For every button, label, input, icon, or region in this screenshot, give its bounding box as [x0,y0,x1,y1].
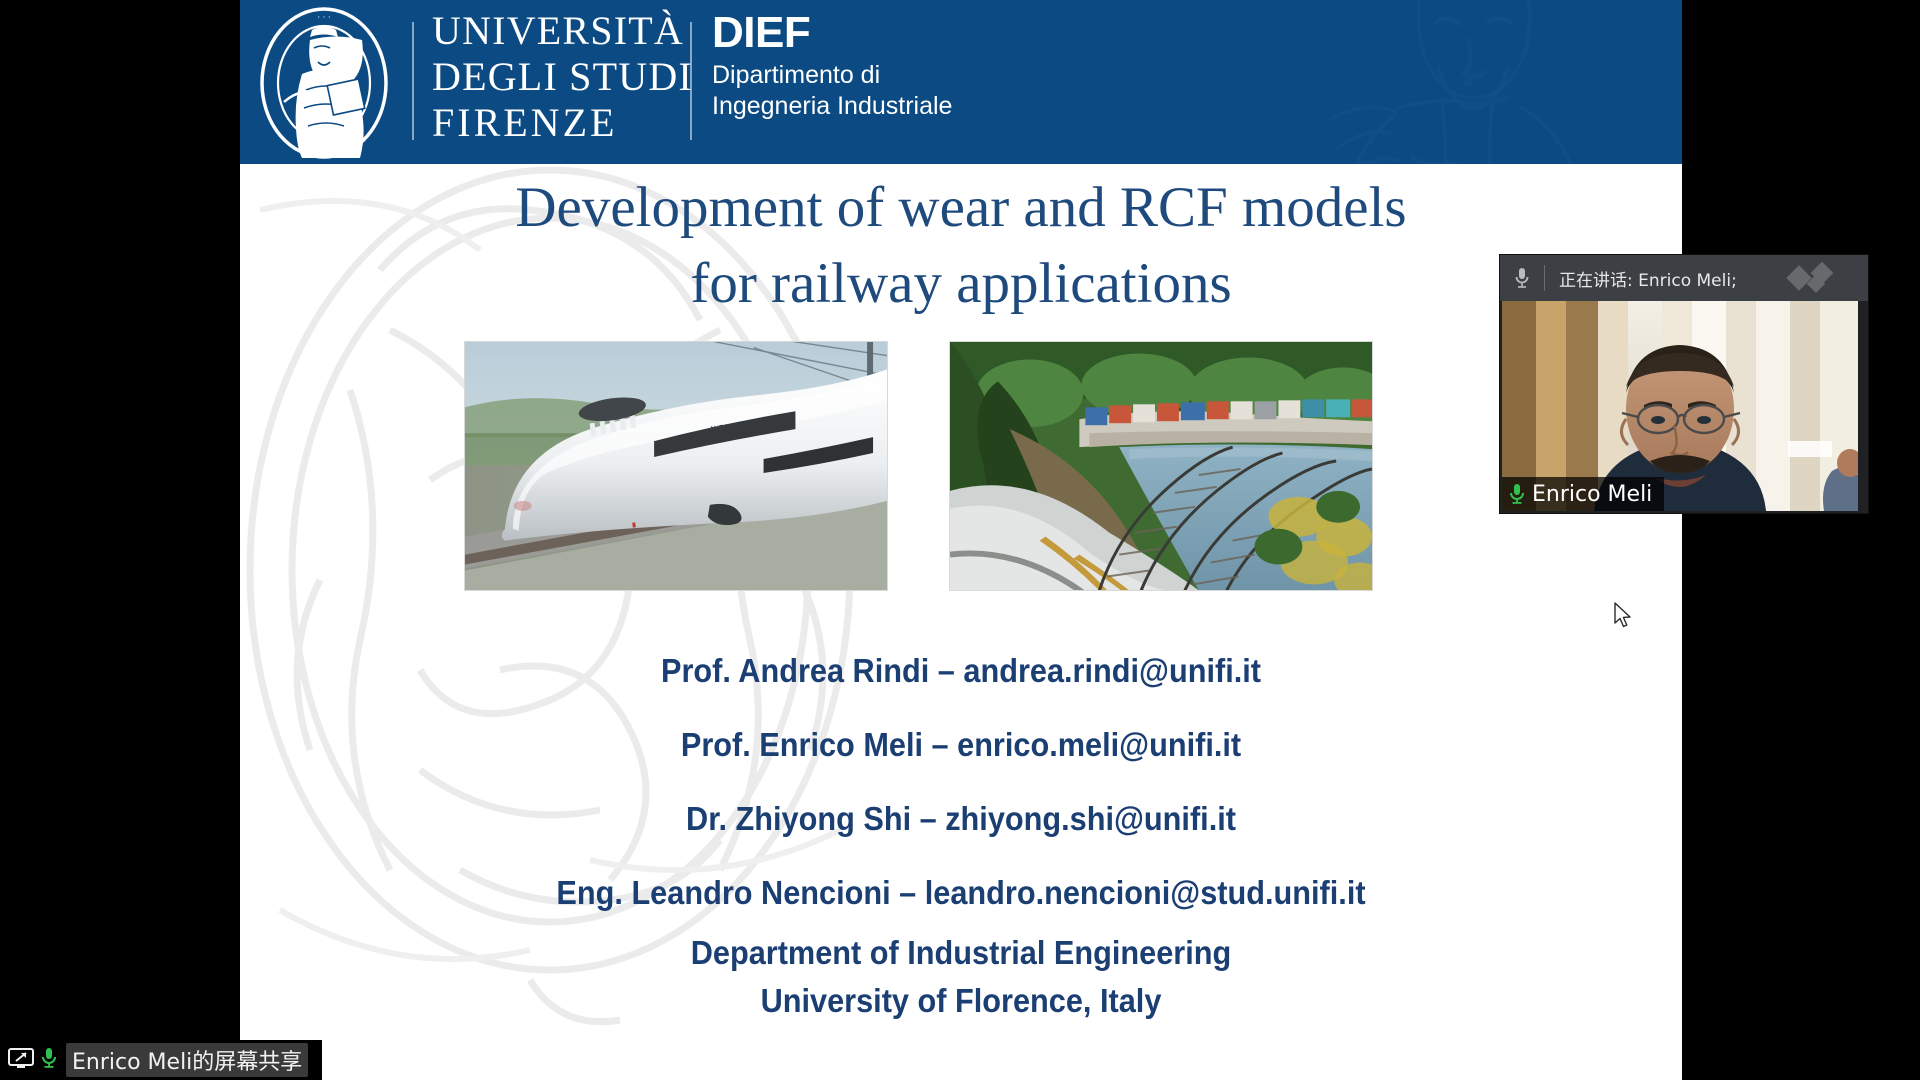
participant-name-bar: Enrico Meli [1502,477,1664,511]
header-divider-1 [412,22,414,140]
high-speed-train-photo: ANECCO [464,341,888,591]
university-header-banner: · · · UNIVERSITÀ DEGLI STUDI FIRENZE DIE… [240,0,1682,164]
department-line1: Department of Industrial Engineering [290,929,1631,977]
diamond-decor-icon [1784,261,1842,295]
zoom-video-topbar[interactable]: 正在讲话: Enrico Meli; [1500,255,1868,301]
author-line: Eng. Leandro Nencioni – leandro.nencioni… [290,856,1631,930]
department-block: Department of Industrial Engineering Uni… [240,929,1682,1025]
slide-title-line1: Development of wear and RCF models [240,170,1682,246]
slide-title-line2: for railway applications [240,246,1682,322]
author-line: Prof. Andrea Rindi – andrea.rindi@unifi.… [290,634,1631,708]
shared-slide: · · · UNIVERSITÀ DEGLI STUDI FIRENZE DIE… [240,0,1682,1080]
department-line2: University of Florence, Italy [290,977,1631,1025]
university-seal-icon: · · · [254,4,394,162]
slide-images-row: ANECCO [240,341,1682,591]
screen-share-label: Enrico Meli的屏幕共享 [66,1043,308,1077]
speaking-status-label: 正在讲话: Enrico Meli; [1559,266,1737,291]
microphone-active-green-icon[interactable] [40,1046,58,1075]
author-line: Dr. Zhiyong Shi – zhiyong.shi@unifi.it [290,782,1631,856]
slide-body: Development of wear and RCF models for r… [240,164,1682,1080]
dief-acronym: DIEF [712,10,952,56]
dief-subtitle-line2: Ingegneria Industriale [712,91,952,122]
screen-share-taskbar[interactable]: Enrico Meli的屏幕共享 [0,1040,322,1080]
dief-subtitle: Dipartimento di Ingegneria Industriale [712,60,952,122]
participant-name: Enrico Meli [1532,482,1652,507]
microphone-icon [1500,266,1544,290]
authors-list: Prof. Andrea Rindi – andrea.rindi@unifi.… [240,634,1682,930]
topbar-separator [1544,265,1545,291]
microphone-active-green-icon [1508,482,1526,506]
university-name-line1: UNIVERSITÀ [432,8,682,54]
university-name: UNIVERSITÀ DEGLI STUDI FIRENZE [432,8,682,146]
slide-title: Development of wear and RCF models for r… [240,170,1682,322]
university-name-line3: FIRENZE [432,100,682,146]
freight-train-photo [949,341,1373,591]
dief-block: DIEF Dipartimento di Ingegneria Industri… [712,10,952,122]
mouse-pointer-icon [1613,602,1635,630]
university-name-line2: DEGLI STUDI [432,54,682,100]
svg-text:· · ·: · · · [317,12,331,22]
zoom-video-panel[interactable]: 正在讲话: Enrico Meli; [1500,255,1868,513]
author-line: Prof. Enrico Meli – enrico.meli@unifi.it [290,708,1631,782]
screen-root: · · · UNIVERSITÀ DEGLI STUDI FIRENZE DIE… [0,0,1920,1080]
screen-share-icon[interactable] [8,1047,34,1074]
scholar-line-art-icon [1302,0,1602,164]
dief-subtitle-line1: Dipartimento di [712,60,952,91]
zoom-participant-video[interactable]: Enrico Meli [1502,301,1858,511]
